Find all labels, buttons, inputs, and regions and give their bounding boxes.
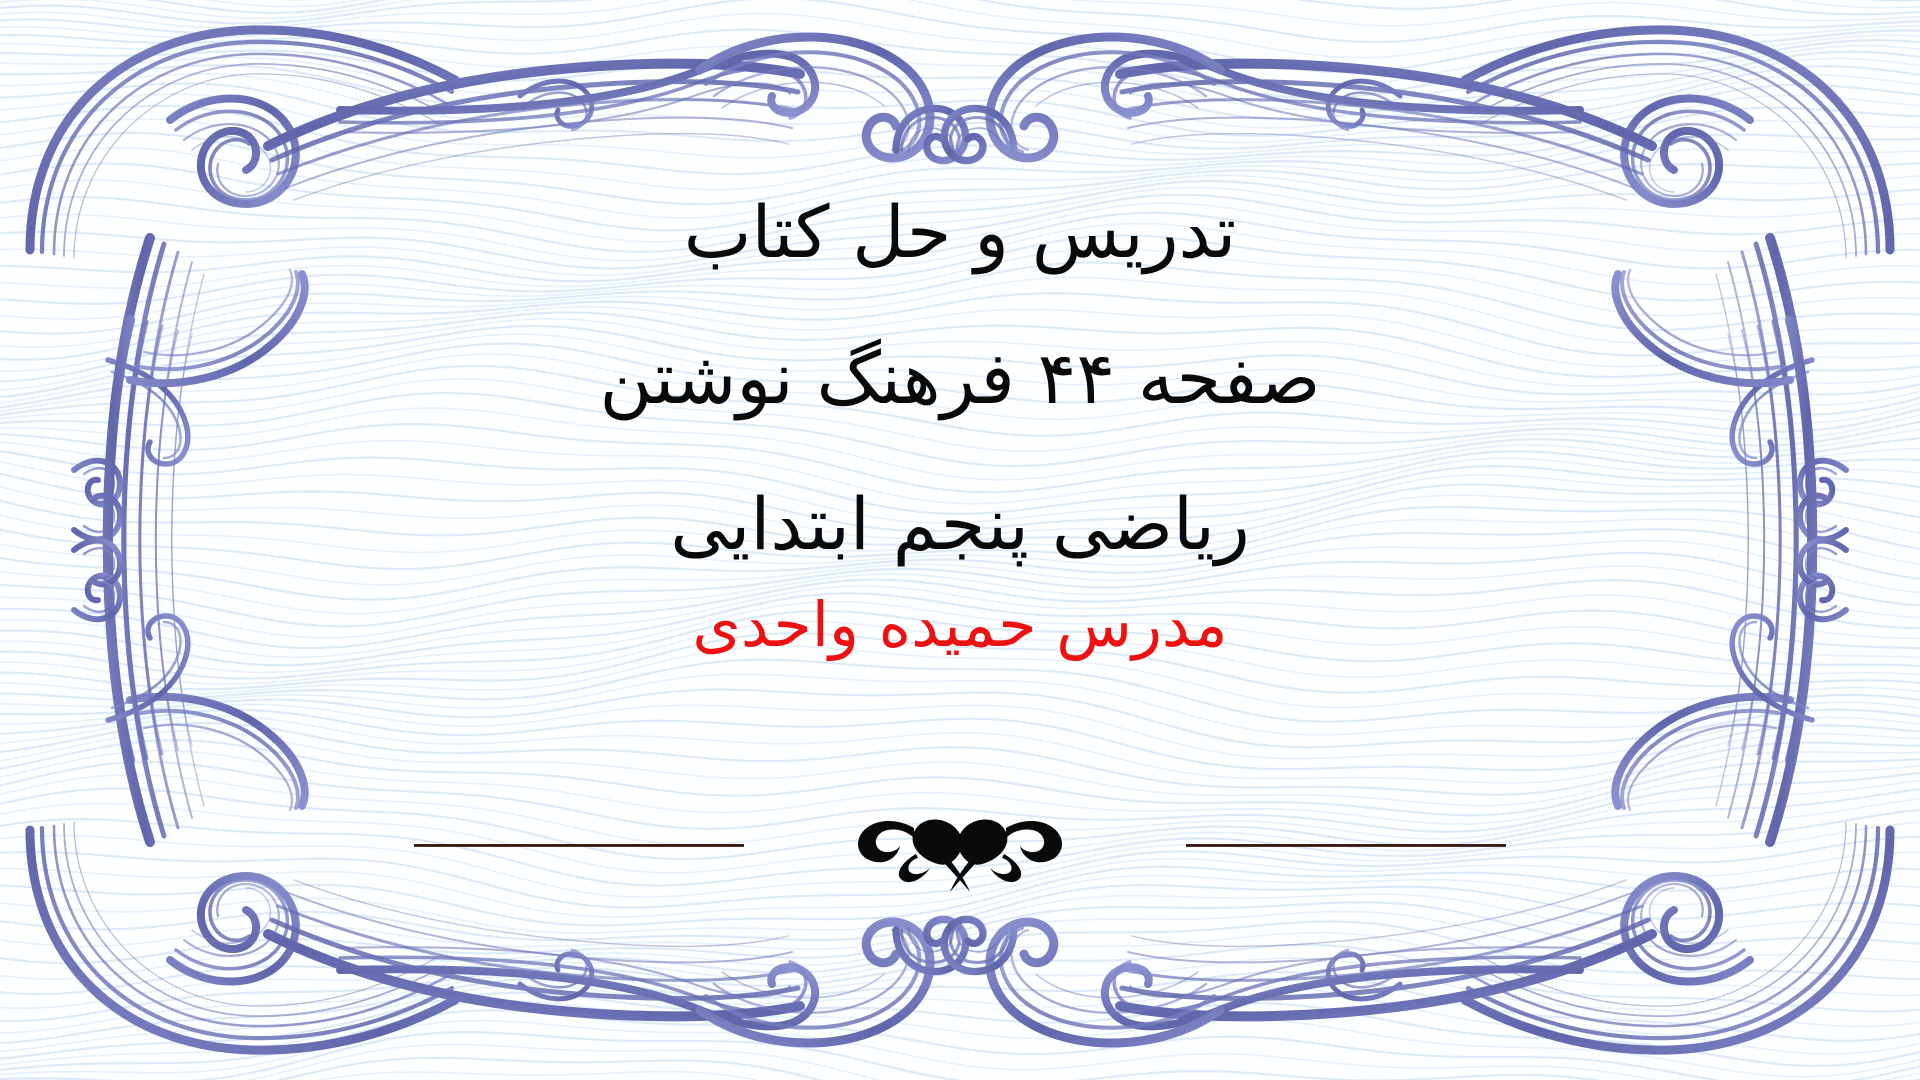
instructor-name: مدرس حمیده واحدی <box>692 594 1227 656</box>
title-line-2: صفحه ۴۴ فرهنگ نوشتن <box>599 342 1320 414</box>
presentation-slide: تدریس و حل کتاب صفحه ۴۴ فرهنگ نوشتن ریاض… <box>0 0 1920 1080</box>
horizontal-rule-left <box>414 844 744 847</box>
horizontal-rule-right <box>1186 844 1506 847</box>
title-line-3: ریاضی پنجم ابتدایی <box>670 488 1249 560</box>
title-line-1: تدریس و حل کتاب <box>684 196 1237 268</box>
slide-content: تدریس و حل کتاب صفحه ۴۴ فرهنگ نوشتن ریاض… <box>0 0 1920 1080</box>
